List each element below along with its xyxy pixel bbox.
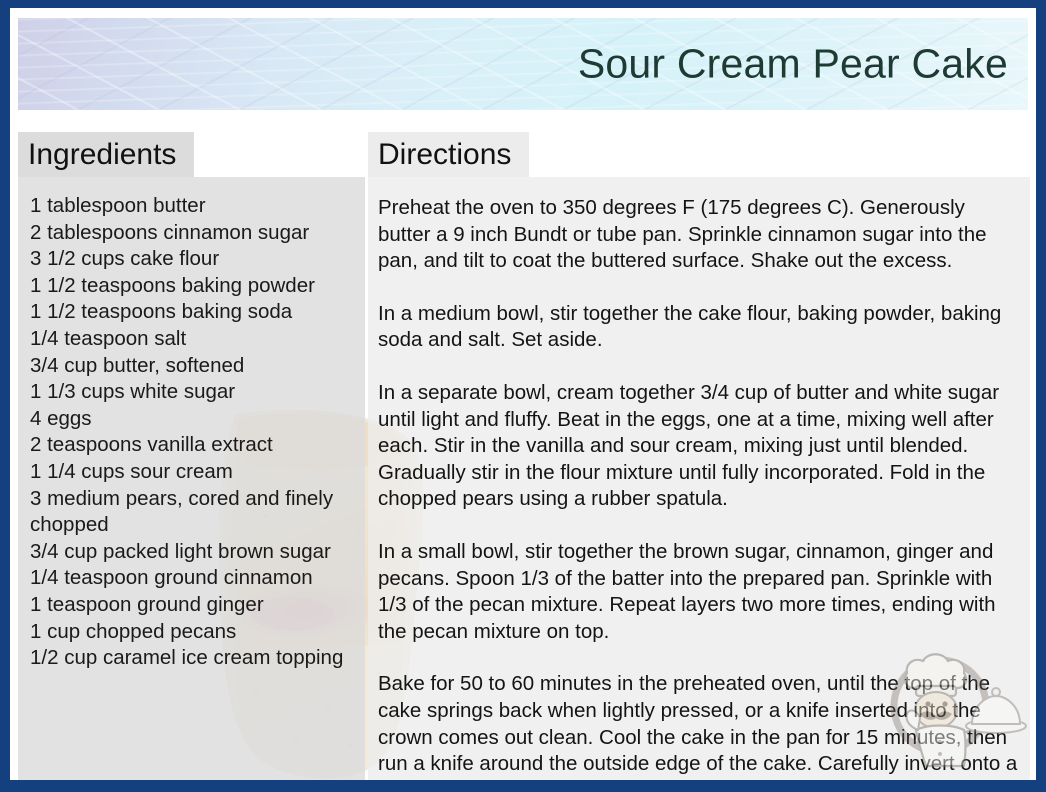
header-banner: Sour Cream Pear Cake <box>18 18 1028 110</box>
list-item: 3/4 cup packed light brown sugar <box>30 539 357 566</box>
section-heading-directions: Directions <box>368 132 529 177</box>
list-item: 1 teaspoon ground ginger <box>30 592 357 619</box>
list-item: 1 tablespoon butter <box>30 193 357 220</box>
direction-step: Bake for 50 to 60 minutes in the preheat… <box>378 671 1022 780</box>
list-item: 2 teaspoons vanilla extract <box>30 432 357 459</box>
list-item: 1/2 cup caramel ice cream topping <box>30 645 357 672</box>
recipe-card: Sour Cream Pear Cake <box>0 0 1046 792</box>
section-heading-ingredients: Ingredients <box>18 132 194 177</box>
list-item: 2 tablespoons cinnamon sugar <box>30 220 357 247</box>
list-item: 1 cup chopped pecans <box>30 619 357 646</box>
list-item: 3 medium pears, cored and finely chopped <box>30 486 357 539</box>
page-title: Sour Cream Pear Cake <box>578 42 1008 85</box>
ingredients-panel: 1 tablespoon butter 2 tablespoons cinnam… <box>18 177 365 780</box>
card-inner-mat: Sour Cream Pear Cake <box>10 8 1036 780</box>
directions-body: Preheat the oven to 350 degrees F (175 d… <box>378 195 1022 780</box>
directions-panel: Preheat the oven to 350 degrees F (175 d… <box>368 177 1030 780</box>
list-item: 1 1/2 teaspoons baking soda <box>30 299 357 326</box>
list-item: 4 eggs <box>30 406 357 433</box>
direction-step: In a small bowl, stir together the brown… <box>378 539 1022 645</box>
list-item: 3 1/2 cups cake flour <box>30 246 357 273</box>
ingredient-list: 1 tablespoon butter 2 tablespoons cinnam… <box>30 193 357 672</box>
list-item: 1 1/4 cups sour cream <box>30 459 357 486</box>
list-item: 3/4 cup butter, softened <box>30 353 357 380</box>
list-item: 1/4 teaspoon ground cinnamon <box>30 565 357 592</box>
list-item: 1 1/3 cups white sugar <box>30 379 357 406</box>
list-item: 1/4 teaspoon salt <box>30 326 357 353</box>
direction-step: Preheat the oven to 350 degrees F (175 d… <box>378 195 1022 275</box>
direction-step: In a medium bowl, stir together the cake… <box>378 301 1022 354</box>
direction-step: In a separate bowl, cream together 3/4 c… <box>378 380 1022 513</box>
list-item: 1 1/2 teaspoons baking powder <box>30 273 357 300</box>
